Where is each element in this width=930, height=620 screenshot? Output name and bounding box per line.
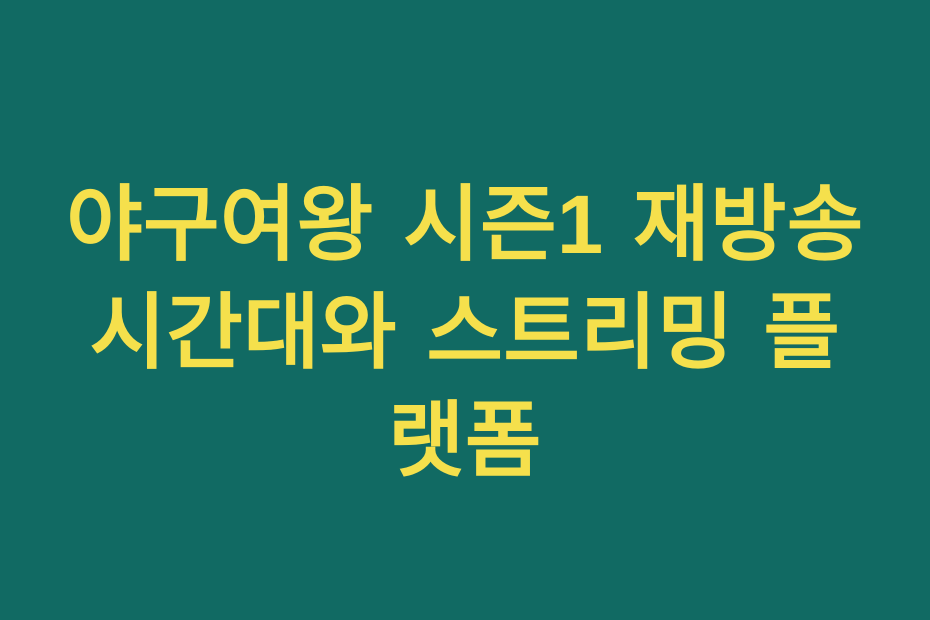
banner-headline: 야구여왕 시즌1 재방송 시간대와 스트리밍 플랫폼 — [65, 171, 865, 495]
banner-canvas: 야구여왕 시즌1 재방송 시간대와 스트리밍 플랫폼 — [0, 0, 930, 620]
headline-block: 야구여왕 시즌1 재방송 시간대와 스트리밍 플랫폼 — [65, 171, 865, 495]
